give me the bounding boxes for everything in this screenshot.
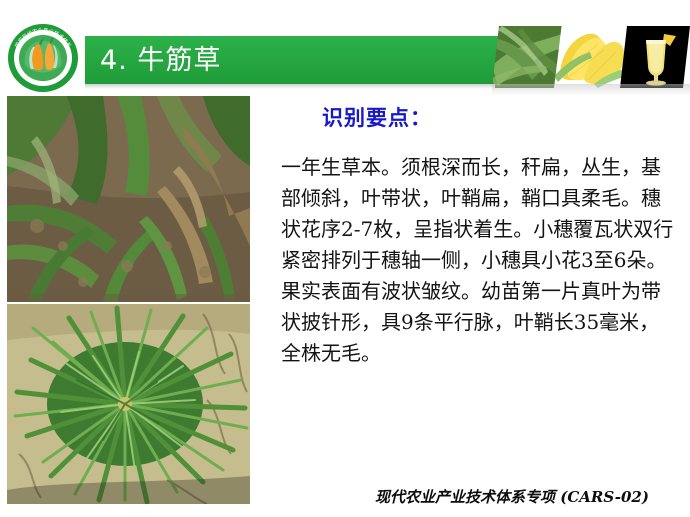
identification-points-body: 一年生草本。须根深而长，秆扁，丛生，基部倾斜，叶带状，叶鞘扁，鞘口具柔毛。穗状花… [281, 152, 677, 369]
header-photo-strip [492, 26, 690, 88]
slide-root: 4. 牛筋草 [0, 0, 690, 517]
corn-drink-photo [620, 26, 690, 88]
logo-ring-text: 国家现代农业产业技术体系 [8, 24, 78, 92]
goosegrass-field-illustration [7, 96, 250, 302]
corn-juice-glass-illustration [620, 26, 690, 88]
goosegrass-clump-photo [7, 304, 250, 504]
svg-text:国家现代农业产业技术体系: 国家现代农业产业技术体系 [14, 26, 74, 49]
page-title: 4. 牛筋草 [100, 41, 221, 81]
corn-leaves-photo [492, 26, 562, 88]
goosegrass-in-field-photo [7, 96, 250, 302]
footer-project-label: 现代农业产业技术体系专项 (CARS-02) [375, 486, 649, 507]
corn-industry-emblem-logo: 国家现代农业产业技术体系 [8, 24, 78, 92]
corn-cobs-illustration [554, 26, 630, 88]
identification-points-heading: 识别要点： [322, 102, 432, 132]
header-photo-reflection [492, 84, 690, 96]
goosegrass-clump-illustration [7, 304, 250, 504]
corn-leaves-illustration [492, 26, 562, 88]
corn-cobs-photo [554, 26, 630, 88]
logo-ring-text-svg: 国家现代农业产业技术体系 [8, 24, 78, 92]
header-underline-shadow [85, 84, 495, 89]
